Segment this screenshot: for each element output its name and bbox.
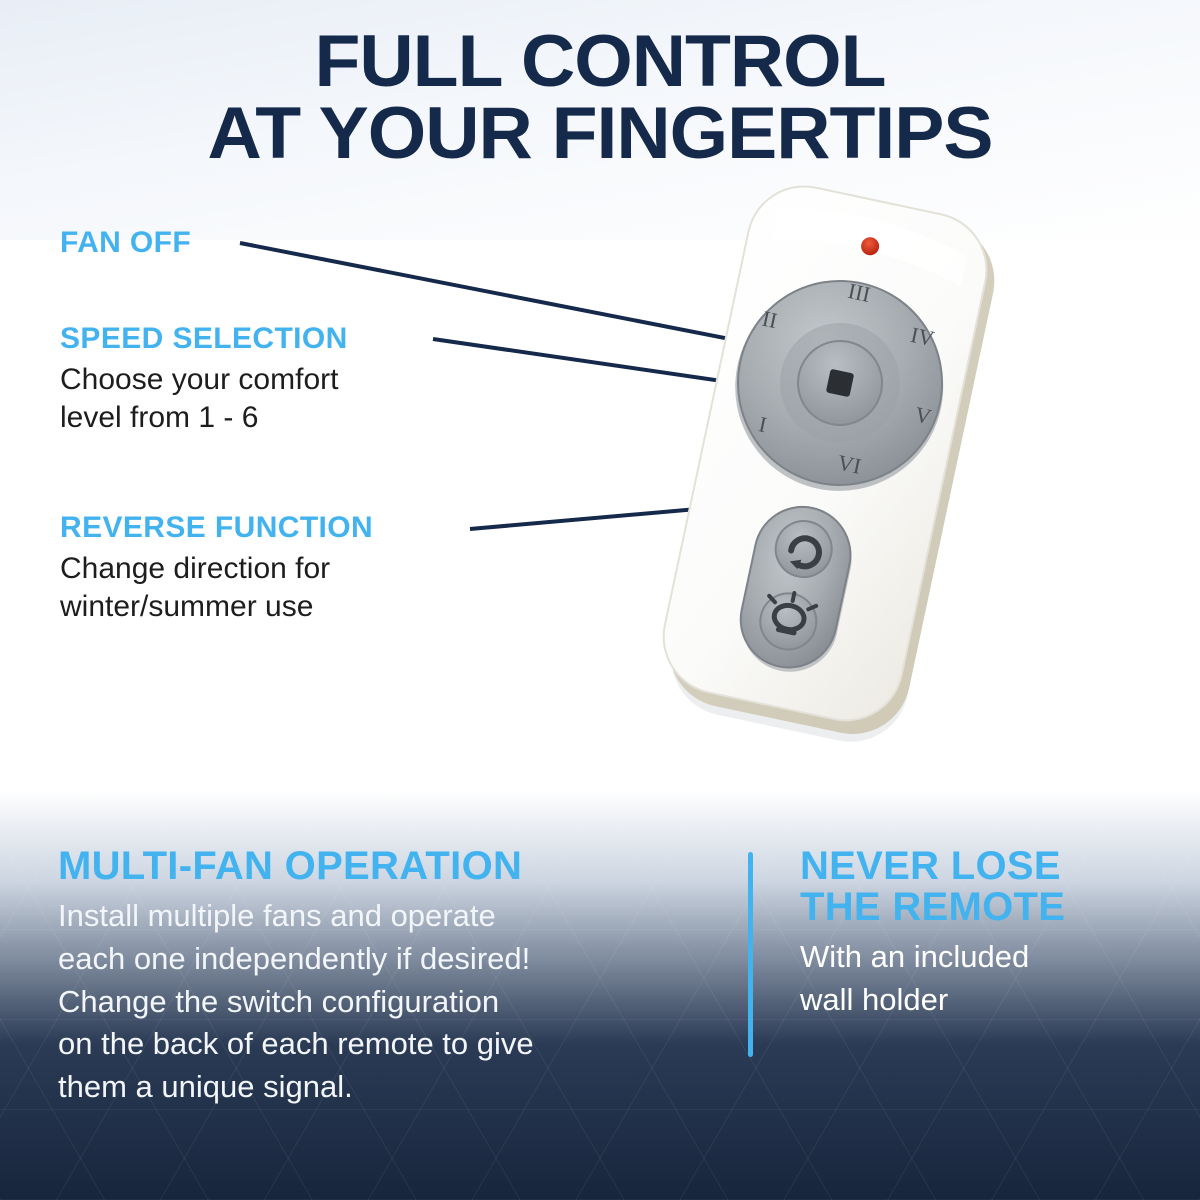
callout-reverse-function: REVERSE FUNCTION Change direction for wi… [60, 512, 373, 626]
never-lose-remote-title-line-1: NEVER LOSE [800, 846, 1160, 887]
multi-fan-body-line-3: Change the switch configuration [58, 981, 718, 1024]
callout-speed-selection: SPEED SELECTION Choose your comfort leve… [60, 323, 348, 437]
callout-fan-off-title: FAN OFF [60, 227, 191, 259]
fan-off-button [826, 369, 854, 397]
multi-fan-operation-body: Install multiple fans and operate each o… [58, 895, 718, 1109]
multi-fan-operation-title: MULTI-FAN OPERATION [58, 846, 718, 887]
multi-fan-body-line-4: on the back of each remote to give [58, 1023, 718, 1066]
callout-reverse-body-line-1: Change direction for [60, 550, 373, 588]
never-lose-remote-body-line-2: wall holder [800, 979, 1160, 1022]
callout-speed-body-line-1: Choose your comfort [60, 361, 348, 399]
callout-speed-selection-title: SPEED SELECTION [60, 323, 348, 355]
callout-fan-off: FAN OFF [60, 227, 191, 259]
multi-fan-body-line-2: each one independently if desired! [58, 938, 718, 981]
multi-fan-body-line-1: Install multiple fans and operate [58, 895, 718, 938]
never-lose-remote-title: NEVER LOSE THE REMOTE [800, 846, 1160, 928]
remote-control-image: III IV V VI I II [600, 180, 1200, 820]
column-divider [748, 852, 753, 1057]
multi-fan-operation-block: MULTI-FAN OPERATION Install multiple fan… [58, 846, 718, 1109]
never-lose-remote-body-line-1: With an included [800, 936, 1160, 979]
callout-reverse-function-title: REVERSE FUNCTION [60, 512, 373, 544]
never-lose-remote-body: With an included wall holder [800, 936, 1160, 1022]
callout-speed-body-line-2: level from 1 - 6 [60, 399, 348, 437]
never-lose-remote-block: NEVER LOSE THE REMOTE With an included w… [800, 846, 1160, 1022]
multi-fan-body-line-5: them a unique signal. [58, 1066, 718, 1109]
callout-reverse-body-line-2: winter/summer use [60, 588, 373, 626]
callout-reverse-function-body: Change direction for winter/summer use [60, 550, 373, 627]
never-lose-remote-title-line-2: THE REMOTE [800, 887, 1160, 928]
callout-speed-selection-body: Choose your comfort level from 1 - 6 [60, 361, 348, 438]
